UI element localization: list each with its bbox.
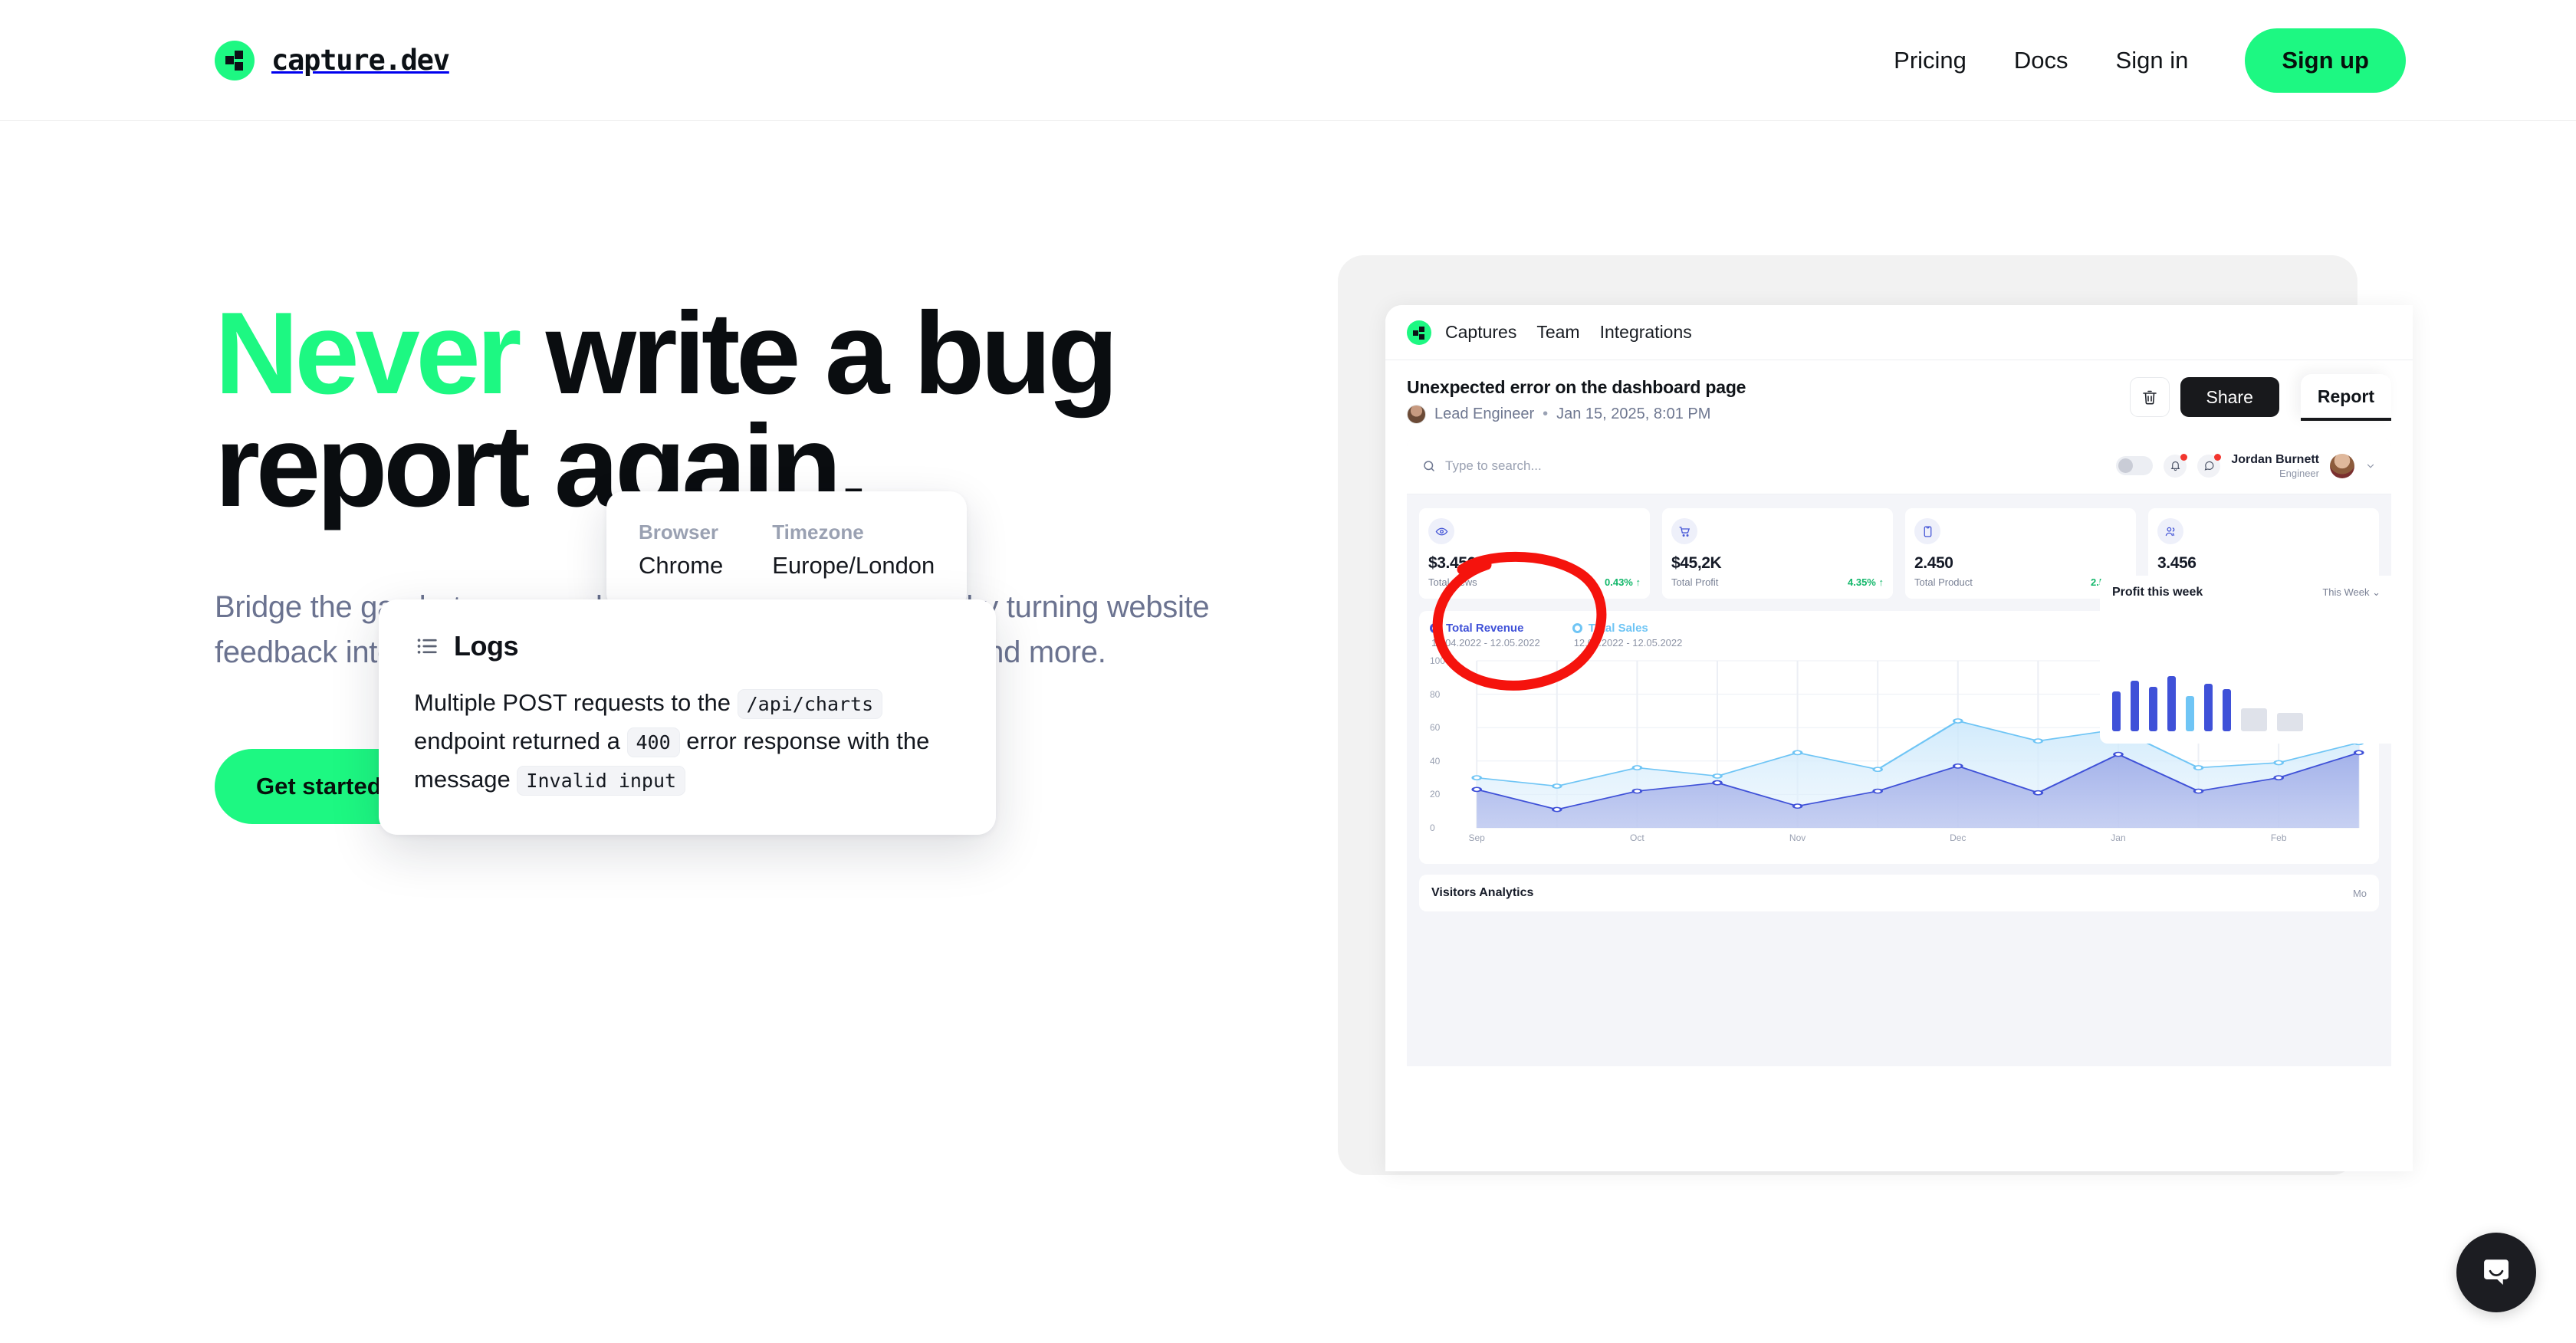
profit-bar: [2241, 708, 2267, 731]
browser-value: Chrome: [639, 552, 723, 580]
capture-searchbar: Type to search...: [1407, 438, 2391, 494]
chat-bubble-icon: [2477, 1253, 2515, 1292]
product-mockup: Captures Team Integrations Unexpected er…: [1338, 255, 2357, 1175]
stat-value: $3.456K: [1428, 554, 1641, 573]
search-icon: [1422, 459, 1436, 473]
users-icon: [2157, 518, 2183, 544]
captured-screenshot: Type to search...: [1407, 438, 2391, 1066]
issue-title: Unexpected error on the dashboard page: [1407, 377, 1746, 398]
capture-logo-icon: [215, 41, 255, 80]
profit-bar: [2131, 681, 2139, 731]
hero-title-accent: Never: [215, 288, 517, 419]
app-topbar: Captures Team Integrations: [1385, 305, 2413, 360]
chevron-down-icon[interactable]: [2365, 461, 2376, 471]
tab-report[interactable]: Report: [2301, 374, 2391, 421]
profit-bar: [2112, 691, 2121, 731]
stat-card: $45,2K Total Profit 4.35% ↑: [1662, 508, 1893, 599]
chart-y-tick: 20: [1430, 789, 1440, 800]
stat-delta: 4.35% ↑: [1848, 576, 1884, 588]
capture-topbar-actions: Jordan Burnett Engineer: [2116, 452, 2376, 479]
visitors-title: Visitors Analytics: [1431, 886, 1533, 900]
profit-bar: [2204, 684, 2213, 731]
capture-user-name: Jordan Burnett: [2231, 452, 2319, 468]
chart-y-tick: 100: [1430, 655, 1445, 666]
trash-icon: [2141, 388, 2159, 406]
logs-code-status: 400: [627, 727, 680, 757]
chart-y-tick: 0: [1430, 823, 1435, 833]
logs-title: Logs: [454, 630, 518, 662]
app-nav-captures[interactable]: Captures: [1445, 322, 1516, 343]
timezone-value: Europe/London: [772, 552, 935, 580]
legend-label: Total Sales: [1589, 622, 1648, 635]
search-input[interactable]: Type to search...: [1445, 458, 1542, 474]
stat-label: Total Profit: [1671, 576, 1718, 588]
logs-text-part2: endpoint returned a: [414, 727, 620, 754]
profit-bar-chart: [2112, 639, 2380, 731]
profit-title: Profit this week: [2112, 586, 2203, 599]
list-icon: [414, 633, 440, 659]
profit-bar: [2277, 713, 2303, 731]
visitors-analytics-card: Visitors Analytics Mo: [1419, 875, 2379, 911]
brand-logo-link[interactable]: capture.dev: [215, 41, 449, 80]
logs-message: Multiple POST requests to the /api/chart…: [414, 684, 962, 800]
issue-header: Unexpected error on the dashboard page L…: [1385, 360, 2413, 438]
issue-actions: Share Report: [2130, 377, 2392, 424]
meta-separator: •: [1543, 406, 1548, 423]
page-title: Never write a bug report again.: [215, 297, 1211, 524]
timezone-field: Timezone Europe/London: [772, 520, 935, 580]
browser-field: Browser Chrome: [639, 520, 723, 580]
nav-link-docs[interactable]: Docs: [2014, 47, 2068, 74]
stat-value: 3.456: [2157, 554, 2370, 573]
profit-period-select[interactable]: This Week ⌄: [2322, 586, 2380, 599]
stat-card: $3.456K Total views 0.43% ↑: [1419, 508, 1650, 599]
legend-dot-icon: [1572, 623, 1582, 633]
issue-meta: Lead Engineer • Jan 15, 2025, 8:01 PM: [1407, 405, 1746, 424]
capture-user-role: Engineer: [2231, 468, 2319, 479]
profit-bar: [2223, 689, 2231, 731]
logs-text-part1: Multiple POST requests to the: [414, 689, 731, 716]
app-nav: Captures Team Integrations: [1445, 322, 1692, 343]
app-logo-icon: [1407, 320, 1431, 345]
chart-x-tick: Feb: [2271, 832, 2287, 843]
browser-label: Browser: [639, 520, 723, 544]
stat-label: Total Product: [1914, 576, 1973, 588]
legend-dot-icon: [1430, 623, 1440, 633]
eye-icon: [1428, 518, 1454, 544]
logs-code-endpoint: /api/charts: [738, 689, 883, 719]
chart-y-tick: 40: [1430, 756, 1440, 767]
issue-author: Lead Engineer: [1434, 406, 1534, 423]
stat-value: $45,2K: [1671, 554, 1884, 573]
chart-y-tick: 80: [1430, 689, 1440, 700]
logs-header: Logs: [414, 630, 962, 662]
share-button[interactable]: Share: [2180, 377, 2279, 417]
mockup-app-window: Captures Team Integrations Unexpected er…: [1385, 305, 2413, 1171]
timezone-label: Timezone: [772, 520, 935, 544]
chart-x-tick: Sep: [1469, 832, 1485, 843]
avatar: [2330, 454, 2354, 478]
legend-entry-sales: Total Sales 12.04.2022 - 12.05.2022: [1572, 622, 1683, 649]
bell-icon[interactable]: [2164, 455, 2187, 478]
profit-bar: [2186, 696, 2194, 731]
nav-link-signin[interactable]: Sign in: [2116, 47, 2189, 74]
logs-card: Logs Multiple POST requests to the /api/…: [379, 599, 996, 835]
box-icon: [1914, 518, 1940, 544]
legend-label: Total Revenue: [1446, 622, 1523, 635]
stat-delta: 0.43% ↑: [1605, 576, 1641, 588]
cart-icon: [1671, 518, 1697, 544]
profit-bar: [2149, 687, 2157, 731]
chart-x-tick: Dec: [1950, 832, 1966, 843]
theme-toggle-icon[interactable]: [2116, 456, 2153, 475]
chart-x-tick: Oct: [1630, 832, 1644, 843]
delete-button[interactable]: [2130, 377, 2170, 417]
app-nav-team[interactable]: Team: [1536, 322, 1579, 343]
profit-bar: [2167, 676, 2176, 731]
app-nav-integrations[interactable]: Integrations: [1600, 322, 1692, 343]
browser-info-card: Browser Chrome Timezone Europe/London: [606, 491, 967, 610]
stat-value: 2.450: [1914, 554, 2127, 573]
legend-range: 12.04.2022 - 12.05.2022: [1430, 637, 1540, 649]
logs-text-part3: error response with: [686, 727, 889, 754]
avatar: [1407, 405, 1426, 424]
chart-x-tick: Nov: [1789, 832, 1806, 843]
logs-code-message: Invalid input: [517, 766, 685, 796]
brand-name: capture.dev: [271, 44, 449, 77]
main-nav: Pricing Docs Sign in Sign up: [1894, 28, 2406, 93]
nav-link-pricing[interactable]: Pricing: [1894, 47, 1967, 74]
legend-entry-revenue: Total Revenue 12.04.2022 - 12.05.2022: [1430, 622, 1540, 649]
signup-button[interactable]: Sign up: [2245, 28, 2406, 93]
chart-x-tick: Jan: [2111, 832, 2125, 843]
profit-widget: Profit this week This Week ⌄: [2100, 576, 2391, 744]
chart-y-tick: 60: [1430, 722, 1440, 733]
site-header: capture.dev Pricing Docs Sign in Sign up: [0, 0, 2576, 121]
legend-range: 12.04.2022 - 12.05.2022: [1572, 637, 1683, 649]
chat-launcher-button[interactable]: [2456, 1233, 2536, 1312]
stat-label: Total views: [1428, 576, 1477, 588]
chat-icon[interactable]: [2197, 455, 2220, 478]
issue-timestamp: Jan 15, 2025, 8:01 PM: [1556, 406, 1710, 423]
visitors-filter[interactable]: Mo: [2353, 888, 2367, 899]
